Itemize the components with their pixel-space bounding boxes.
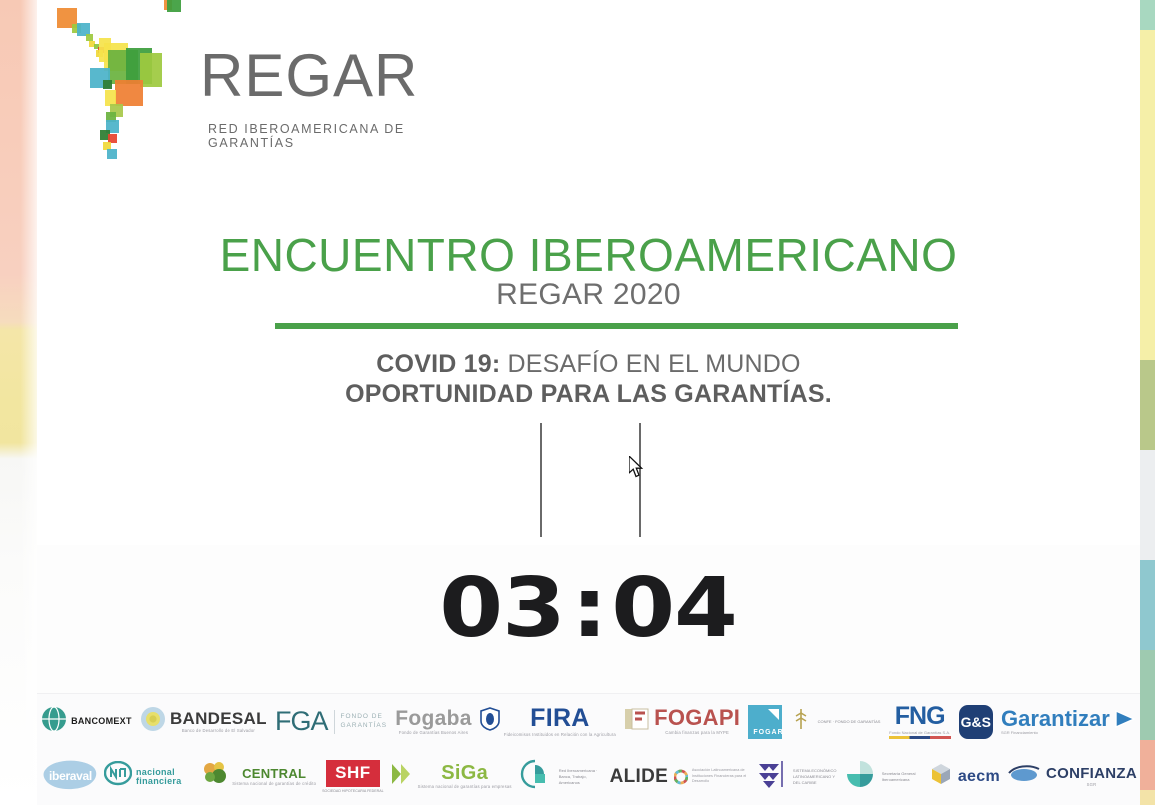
sponsor-caption: Secretaría General Iberoamericana	[882, 771, 922, 783]
cube-icon	[928, 761, 954, 792]
presentation-stage: REGAR RED IBEROAMERICANA DE GARANTÍAS EN…	[0, 0, 1155, 805]
covid-headline-rest: DESAFÍO EN EL MUNDO	[500, 350, 800, 378]
map-tile	[107, 149, 117, 159]
sponsor-logo-fira: FIRAFideicomisos Instituidos en Relación…	[477, 698, 619, 746]
pie-icon	[845, 759, 875, 794]
map-tile	[167, 0, 181, 12]
sponsor-name: CONFIANZA	[1046, 766, 1137, 781]
vertical-rule-left	[540, 423, 542, 537]
sponsor-logo-gys: G&S	[956, 698, 996, 746]
sponsor-logo-alide-ring: Asociación Latinoamericana de Institucio…	[671, 753, 753, 801]
sponsor-tagline: Banco de Desarrollo de El Salvador	[182, 729, 255, 733]
edge-band	[1140, 650, 1155, 740]
sponsor-logo-confe: CONFE · FONDO DE GARANTÍAS	[788, 698, 884, 746]
sponsor-name: BANCOMEXT	[71, 717, 132, 726]
sponsor-label: nacional financiera	[136, 768, 196, 786]
sponsor-label: ALIDE	[610, 767, 669, 786]
sponsor-logo-red-iberoamericana: Red Iberoamericana · Banca, Trabajo, Ame…	[515, 753, 607, 801]
regar-tagline: RED IBEROAMERICANA DE GARANTÍAS	[208, 122, 408, 150]
sponsor-logo-shf: SHFSOCIEDAD HIPOTECARIA FEDERAL	[319, 753, 387, 801]
sponsor-logo-nafin: nacional financiera	[101, 753, 199, 801]
edge-band	[1140, 450, 1155, 560]
sponsor-logo-garantizar: GarantizarSGR Financiamiento	[998, 698, 1139, 746]
sponsor-caption: Red Iberoamericana · Banca, Trabajo, Ame…	[559, 768, 604, 786]
mouse-pointer-icon	[629, 456, 645, 480]
map-tile	[140, 53, 162, 87]
edge-band	[1140, 30, 1155, 360]
map-tile	[115, 80, 143, 106]
sponsor-label: CENTRALSistema nacional de garantías de …	[232, 767, 316, 786]
fng-flag-icon: FNGFondo Nacional de Garantías S.A.	[889, 704, 951, 739]
sponsor-name: nacional financiera	[136, 768, 196, 786]
sponsor-logo-fogaba: FogabaFondo de Garantías Buenos Aires	[392, 698, 474, 746]
garantias-headline: OPORTUNIDAD PARA LAS GARANTÍAS.	[37, 380, 1140, 409]
gys-badge-icon: G&S	[959, 705, 993, 739]
sponsor-tagline: Fondo de Garantías Buenos Aires	[399, 731, 468, 735]
sponsor-name: BANDESAL	[170, 710, 267, 727]
shield-icon	[480, 707, 500, 736]
ring-icon	[518, 759, 552, 794]
map-tile	[103, 80, 112, 89]
sponsor-tagline: Cambia finanzas para la MYPE	[665, 731, 729, 735]
f-block-icon	[624, 706, 650, 737]
edge-band	[1140, 360, 1155, 450]
sponsor-name: SiGa	[441, 763, 488, 783]
sponsor-label: FOGAPICambia finanzas para la MYPE	[654, 707, 740, 735]
sponsor-name: ALIDE	[610, 767, 669, 786]
play-triangle-icon	[1114, 710, 1136, 733]
triangles-icon	[756, 759, 786, 794]
latin-america-map-icon	[48, 0, 178, 169]
sponsor-logo-bandesal: BANDESALBanco de Desarrollo de El Salvad…	[137, 698, 270, 746]
sponsor-label: SiGaSistema nacional de garantías para e…	[418, 763, 512, 789]
edge-band	[1140, 0, 1155, 30]
shf-box-icon: SHF	[326, 760, 380, 786]
title-divider	[275, 323, 958, 329]
sponsor-label: BANDESALBanco de Desarrollo de El Salvad…	[170, 710, 267, 733]
sponsor-logo-fogar: FOGAR	[745, 698, 785, 746]
sponsor-name: FOGAPI	[654, 707, 740, 729]
nafin-icon	[104, 761, 132, 792]
countdown-seconds: 04	[612, 568, 738, 650]
sponsor-logo-bhd-central: CENTRALSistema nacional de garantías de …	[199, 753, 319, 801]
left-edge-fade	[0, 0, 37, 805]
sponsor-strip: BANCOMEXTBANDESALBanco de Desarrollo de …	[37, 693, 1140, 805]
sponsor-logo-bancomext: BANCOMEXT	[38, 698, 135, 746]
countdown-minutes: 03	[440, 568, 566, 650]
sponsor-logo-fga: FGAFONDO DE GARANTÍAS	[272, 698, 390, 746]
sponsor-logo-siga: SiGaSistema nacional de garantías para e…	[387, 753, 515, 801]
edge-band	[1140, 560, 1155, 650]
sponsor-tagline: Sistema nacional de garantías para empre…	[418, 785, 512, 789]
sponsor-logo-confianza: CONFIANZASGR	[1003, 753, 1140, 801]
countdown-timer: 03:04	[37, 568, 1140, 650]
sponsor-name: Fogaba	[395, 708, 471, 729]
map-tile	[86, 34, 93, 41]
sponsor-row-2: iberavalnacional financieraCENTRALSistem…	[37, 749, 1140, 804]
sponsor-label: FogabaFondo de Garantías Buenos Aires	[395, 708, 471, 735]
regar-logo: REGAR RED IBEROAMERICANA DE GARANTÍAS	[48, 0, 408, 169]
sponsor-name: aecm	[958, 769, 1000, 785]
sponsor-caption: CONFE · FONDO DE GARANTÍAS	[818, 719, 881, 725]
right-edge-strip	[1140, 0, 1155, 805]
covid-headline: COVID 19: DESAFÍO EN EL MUNDO	[37, 349, 1140, 380]
sponsor-tagline: SGR	[1087, 783, 1097, 787]
sponsor-logo-sela: SISTEMA ECONÓMICO LATINOAMERICANO Y DEL …	[753, 753, 842, 801]
globe-icon	[41, 706, 67, 737]
sponsor-logo-fogapi: FOGAPICambia finanzas para la MYPE	[621, 698, 743, 746]
fogar-tile-icon: FOGAR	[748, 705, 782, 739]
sun-icon	[140, 706, 166, 737]
swoosh-icon	[1006, 764, 1042, 789]
bubbles-icon	[202, 761, 228, 792]
page-subtitle: REGAR 2020	[37, 278, 1140, 311]
regar-wordmark: REGAR	[200, 46, 418, 106]
sponsor-row-1: BANCOMEXTBANDESALBanco de Desarrollo de …	[37, 694, 1140, 749]
edge-band	[1140, 790, 1155, 805]
sponsor-logo-alide: ALIDE	[607, 753, 672, 801]
chevrons-icon	[390, 762, 414, 791]
page-title: ENCUENTRO IBEROAMERICANO	[37, 232, 1140, 278]
sponsor-caption: SISTEMA ECONÓMICO LATINOAMERICANO Y DEL …	[793, 768, 839, 786]
sponsor-name: FIRA	[530, 706, 590, 731]
sponsor-logo-aecm: aecm	[925, 753, 1003, 801]
sponsor-name: CENTRAL	[242, 767, 306, 780]
sponsor-label: aecm	[958, 769, 1000, 785]
sponsor-logo-fng: FNGFondo Nacional de Garantías S.A.	[886, 698, 954, 746]
wheat-icon	[791, 707, 811, 736]
sponsor-logo-iberaval: iberaval	[37, 753, 101, 801]
sponsor-tagline: Sistema nacional de garantías de crédito	[232, 782, 316, 786]
sponsor-tagline: Fideicomisos Instituidos en Relación con…	[504, 733, 616, 737]
sponsor-label: BANCOMEXT	[71, 717, 132, 726]
sponsor-label: FIRAFideicomisos Instituidos en Relación…	[504, 706, 616, 737]
sponsor-label: CONFIANZASGR	[1046, 766, 1137, 787]
iberaval-blob-icon: iberaval	[40, 759, 98, 795]
sponsor-logo-segib: Secretaría General Iberoamericana	[842, 753, 925, 801]
edge-band	[1140, 740, 1155, 790]
covid-headline-bold: COVID 19:	[376, 350, 500, 378]
